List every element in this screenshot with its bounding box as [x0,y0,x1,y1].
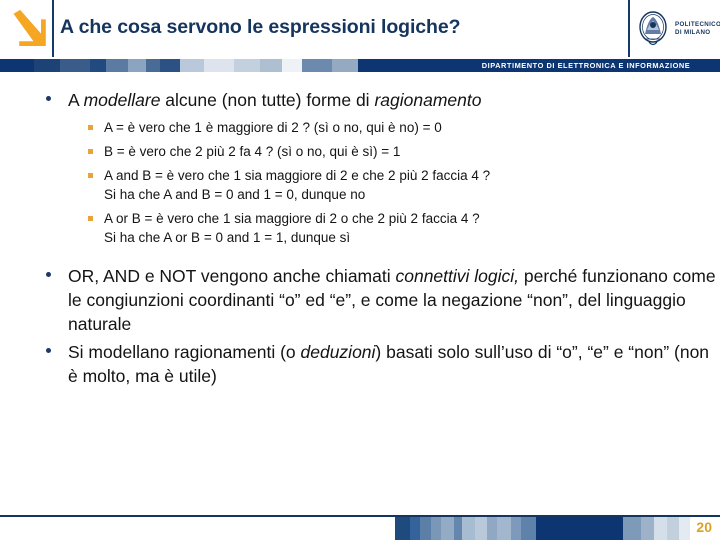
stripe-segment [160,59,180,72]
bullet-dot-icon [46,272,51,277]
stripe-segment [454,517,462,540]
bullet-text-italic1: modellare [84,90,161,110]
stripe-segment [431,517,441,540]
bullet-text-part1: Si modellano ragionamenti (o [68,342,301,362]
stripe-segment [260,59,282,72]
stripe-segment [146,59,160,72]
stripe-segment [641,517,654,540]
arrow-down-right-icon [7,8,51,52]
bullet-text-part1: A [68,90,84,110]
politecnico-logo: POLITECNICO DI MILANO [636,6,720,52]
stripe-segment [106,59,128,72]
stripe-segment [332,59,358,72]
stripe-segment [420,517,431,540]
sub-bullet-item-a-and-b: A and B = è vero che 1 sia maggiore di 2… [0,166,720,204]
sub-bullet-line-2: Si ha che A and B = 0 and 1 = 0, dunque … [104,187,365,202]
sub-bullet-line-1: A and B = è vero che 1 sia maggiore di 2… [104,168,490,183]
stripe-segment [536,517,623,540]
bullet-text-italic1: deduzioni [301,342,376,362]
bullet-item-modellare: A modellare alcune (non tutte) forme di … [0,88,720,112]
politecnico-logo-text: POLITECNICO DI MILANO [675,21,720,37]
logo-line-2: DI MILANO [675,29,720,37]
footer-stripe-bar [395,517,720,540]
stripe-segment [679,517,690,540]
stripe-segment [441,517,454,540]
sub-bullet-list: A = è vero che 1 è maggiore di 2 ? (sì o… [0,118,720,247]
stripe-segment [462,517,475,540]
page-title: A che cosa servono le espressioni logich… [60,16,620,39]
sub-bullet-item-a: A = è vero che 1 è maggiore di 2 ? (sì o… [0,118,720,137]
stripe-segment [234,59,260,72]
bullet-text-part1: OR, AND e NOT vengono anche chiamati [68,266,395,286]
sub-bullet-line-1: A = è vero che 1 è maggiore di 2 ? (sì o… [104,120,442,135]
stripe-segment [34,59,60,72]
logo-line-1: POLITECNICO [675,21,720,29]
page-number: 20 [696,519,712,535]
stripe-segment [128,59,146,72]
bullet-dot-icon [46,96,51,101]
stripe-segment [410,517,420,540]
header-divider-right [628,0,630,57]
stripe-segment [204,59,234,72]
stripe-segment [60,59,90,72]
square-bullet-icon [88,173,93,178]
bullet-dot-icon [46,348,51,353]
stripe-segment [521,517,536,540]
stripe-segment [302,59,332,72]
stripe-segment [282,59,302,72]
stripe-segment [623,517,641,540]
header-divider-left [52,0,54,57]
square-bullet-icon [88,216,93,221]
bullet-text-italic1: connettivi logici, [395,266,519,286]
sub-bullet-item-a-or-b: A or B = è vero che 1 sia maggiore di 2 … [0,209,720,247]
sub-bullet-line-2: Si ha che A or B = 0 and 1 = 1, dunque s… [104,230,350,245]
sub-bullet-line-1: B = è vero che 2 più 2 fa 4 ? (sì o no, … [104,144,400,159]
department-banner: DIPARTIMENTO DI ELETTRONICA E INFORMAZIO… [452,59,720,72]
stripe-segment [180,59,204,72]
slide-body: A modellare alcune (non tutte) forme di … [0,88,720,392]
politecnico-seal-icon [636,8,670,50]
sub-bullet-item-b: B = è vero che 2 più 2 fa 4 ? (sì o no, … [0,142,720,161]
stripe-segment [395,517,410,540]
stripe-segment [90,59,106,72]
slide-header: A che cosa servono le espressioni logich… [0,0,720,58]
stripe-segment [487,517,497,540]
stripe-segment [475,517,486,540]
stripe-segment [654,517,667,540]
bullet-text-italic2: ragionamento [374,90,481,110]
square-bullet-icon [88,149,93,154]
stripe-segment [511,517,521,540]
bullet-text-part2: alcune (non tutte) forme di [160,90,374,110]
stripe-segment [667,517,678,540]
paragraph-bullets: OR, AND e NOT vengono anche chiamati con… [0,264,720,388]
sub-bullet-line-1: A or B = è vero che 1 sia maggiore di 2 … [104,211,480,226]
stripe-segment [497,517,512,540]
stripe-segment [0,59,34,72]
bullet-item-deduzioni: Si modellano ragionamenti (o deduzioni) … [0,340,720,388]
square-bullet-icon [88,125,93,130]
bullet-item-connettivi: OR, AND e NOT vengono anche chiamati con… [0,264,720,336]
